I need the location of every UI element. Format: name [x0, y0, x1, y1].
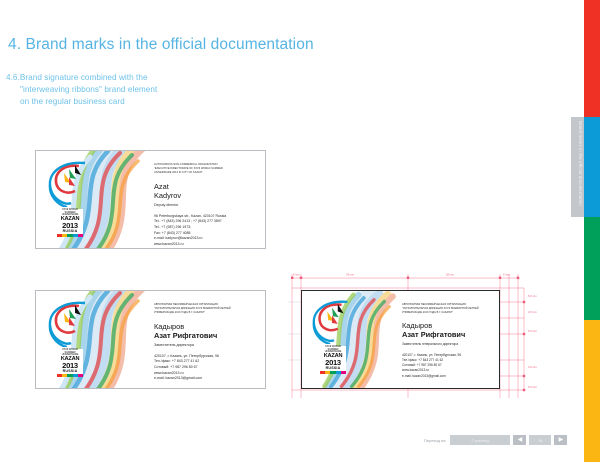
section-side-tab-label: Brand marks in the official documentatio… [578, 121, 583, 213]
card-first-name: Азат Рифгатович [154, 331, 266, 340]
universiade-emblem [45, 161, 95, 212]
dim-right-3: 5,0 mm [528, 329, 537, 333]
business-card-technical: XXVII WORLD SUMMER UNIVERSIADE KAZAN 201… [301, 290, 500, 389]
card-last-name: Кадыров [402, 321, 500, 330]
card-first-name: Azat [154, 182, 264, 191]
dim-right-4: 4,5 mm [528, 365, 537, 369]
wordmark-country: RUSSIA [57, 370, 83, 374]
business-card-english: XXVII WORLD SUMMER UNIVERSIADE KAZAN 201… [35, 150, 266, 249]
wordmark-country: RUSSIA [57, 230, 83, 234]
card-last-name: Kadyrov [154, 191, 264, 200]
wordmark-country: RUSSIA [320, 367, 346, 371]
dim-right-1: 5,0 mm [528, 294, 537, 298]
wordmark-color-bars [57, 374, 83, 377]
business-card-russian: XXVII WORLD SUMMER UNIVERSIADE KAZAN 201… [35, 290, 266, 389]
prev-page-button[interactable]: ◀ [513, 435, 526, 445]
card-text-block: AUTONOMOUS NON-COMMERCIAL ORGANIZATION "… [154, 163, 264, 248]
subsection-number: 4.6. [6, 73, 20, 82]
dim-right-2: 4,5 mm [528, 310, 537, 314]
card-contacts: 96 Peterburgskaya str., Kazan, 420107 Ru… [154, 214, 264, 248]
contact-email: e-mail: kazan2013@gmail.com [402, 374, 500, 379]
subsection-line-3: on the regular business card [6, 96, 157, 108]
dim-right-5: 5,0 mm [528, 385, 537, 389]
emblem-wordmark: XXVII WORLD SUMMER UNIVERSIADE KAZAN 201… [57, 349, 83, 377]
contact-email: e-mail: kazan2013@gmail.com [154, 376, 266, 382]
card-text-block: АВТОНОМНАЯ НЕКОММЕРЧЕСКАЯ ОРГАНИЗАЦИЯ "И… [402, 303, 500, 379]
card-organisation: AUTONOMOUS NON-COMMERCIAL ORGANIZATION "… [154, 163, 264, 174]
page-navigation: Переход на Страницу ◀ № ▶ [424, 433, 567, 447]
card-organisation: АВТОНОМНАЯ НЕКОММЕРЧЕСКАЯ ОРГАНИЗАЦИЯ "И… [402, 303, 500, 314]
card-organisation: АВТОНОМНАЯ НЕКОММЕРЧЕСКАЯ ОРГАНИЗАЦИЯ "И… [154, 303, 266, 314]
emblem-wordmark: XXVII WORLD SUMMER UNIVERSIADE KAZAN 201… [57, 209, 83, 237]
card-contacts: 420107, г. Казань, ул. Петербургская, 96… [154, 354, 266, 382]
dim-top-2: 33 mm [346, 273, 354, 277]
navigation-label: Переход на [424, 438, 445, 443]
color-rail [584, 0, 600, 462]
emblem-wordmark: XXVII WORLD SUMMER UNIVERSIADE KAZAN 201… [320, 346, 346, 374]
card-text-block: АВТОНОМНАЯ НЕКОММЕРЧЕСКАЯ ОРГАНИЗАЦИЯ "И… [154, 303, 266, 382]
card-position: Заместитель директора [154, 343, 266, 347]
presentation-page: Brand marks in the official documentatio… [0, 0, 600, 462]
subsection-line-1: Brand signature combined with the [20, 73, 148, 82]
wordmark-color-bars [320, 371, 346, 374]
page-number-field[interactable]: № [529, 435, 551, 445]
rail-band-red [584, 0, 600, 117]
org-line-3: УНИВЕРСИАДЫ 2013 ГОДА В Г. КАЗАНИ" [154, 311, 266, 315]
rail-band-blue [584, 117, 600, 217]
rail-band-green [584, 217, 600, 320]
card-contacts: 420107, г. Казань, ул. Петербургская, 96… [402, 353, 500, 379]
wordmark-color-bars [57, 234, 83, 237]
page-select[interactable]: Страницу [450, 435, 510, 445]
dim-top-1: 5 mm [293, 273, 299, 277]
section-side-tab[interactable]: Brand marks in the official documentatio… [571, 117, 584, 217]
rail-band-yellow [584, 320, 600, 462]
org-line-3: УНИВЕРСИАДЫ 2013 ГОДА В Г. КАЗАНИ" [402, 311, 500, 315]
subsection-line-2: "interweaving ribbons" brand element [6, 84, 157, 96]
card-last-name: Кадыров [154, 322, 266, 331]
page-title: 4. Brand marks in the official documenta… [8, 36, 314, 54]
dim-top-3: 28 mm [446, 273, 454, 277]
card-position: Заместитель генерального директора [402, 342, 500, 346]
dim-top-4: 5 mm [503, 273, 509, 277]
org-line-3: UNIVERSIADE 2013 IN CITY OF KAZAN" [154, 171, 264, 175]
subsection-heading: 4.6.Brand signature combined with the "i… [6, 72, 157, 108]
card-position: Deputy director [154, 203, 264, 207]
contact-website: www.kazan2013.ru [154, 242, 264, 248]
universiade-emblem [45, 301, 95, 352]
next-page-button[interactable]: ▶ [554, 435, 567, 445]
universiade-emblem [309, 300, 357, 349]
card-first-name: Азат Рифгатович [402, 330, 500, 339]
